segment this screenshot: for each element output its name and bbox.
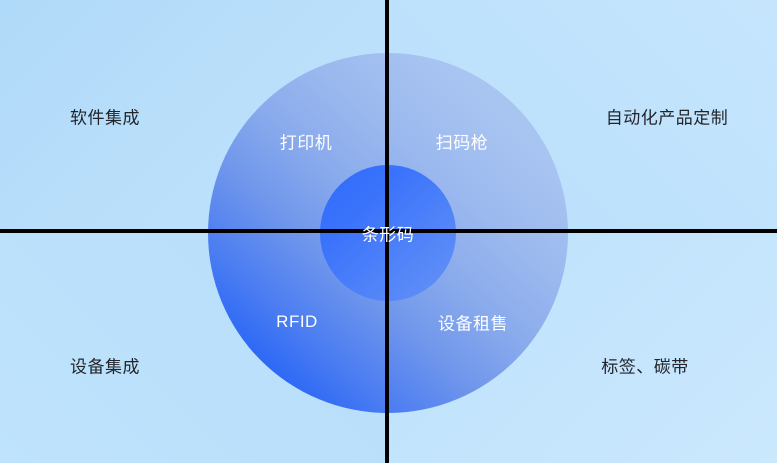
outer-label-top-right: 自动化产品定制	[606, 104, 729, 129]
outer-label-top-left: 软件集成	[70, 104, 140, 129]
outer-label-bottom-left: 设备集成	[70, 353, 140, 378]
outer-label-bottom-right: 标签、碳带	[601, 353, 689, 378]
inner-label-bottom-right: 设备租售	[438, 310, 508, 335]
core-label: 条形码	[362, 221, 415, 246]
inner-label-top-left: 打印机	[280, 129, 333, 154]
diagram-canvas: 软件集成 自动化产品定制 设备集成 标签、碳带 打印机 扫码枪 RFID 设备租…	[0, 0, 777, 463]
inner-label-bottom-left: RFID	[276, 312, 318, 332]
inner-label-top-right: 扫码枪	[436, 129, 489, 154]
